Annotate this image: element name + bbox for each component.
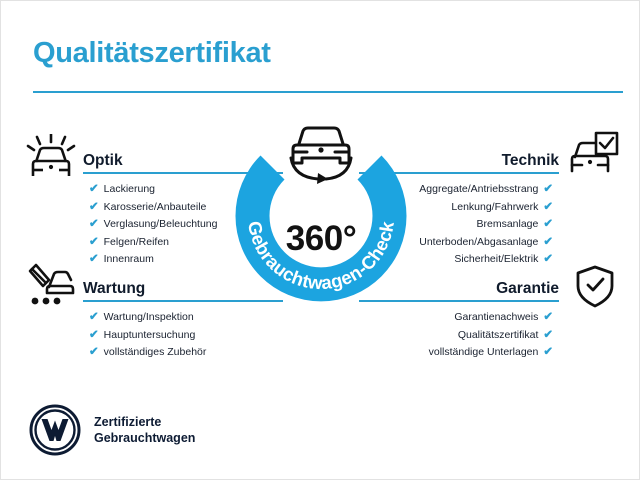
footer-brand: ZertifizierteGebrauchtwagen — [29, 404, 195, 456]
list-item: vollständige Unterlagen✔ — [429, 344, 553, 362]
section-title: Wartung — [83, 280, 145, 298]
list-item-label: Bremsanlage — [476, 216, 538, 234]
list-item-label: Hauptuntersuchung — [104, 327, 196, 345]
check-icon: ✔ — [543, 237, 553, 249]
title-divider — [33, 91, 623, 93]
car-front-rotate-icon — [280, 119, 362, 194]
list-item: ✔vollständiges Zubehör — [89, 344, 206, 362]
list-item-label: vollständige Unterlagen — [429, 344, 539, 362]
check-icon: ✔ — [543, 219, 553, 231]
list-item-label: Lenkung/Fahrwerk — [451, 199, 538, 217]
check-icon: ✔ — [543, 330, 553, 342]
list-item: Sicherheit/Elektrik✔ — [419, 251, 553, 269]
list-item-label: Karosserie/Anbauteile — [104, 199, 207, 217]
vw-logo-icon — [29, 404, 81, 456]
car-shine-icon — [25, 134, 77, 185]
certificate-page: Qualitätszertifikat — [0, 0, 640, 480]
check-icon: ✔ — [543, 254, 553, 266]
list-item: Lenkung/Fahrwerk✔ — [419, 199, 553, 217]
footer-line-2: Gebrauchtwagen — [94, 431, 195, 445]
check-icon: ✔ — [543, 184, 553, 196]
list-item: Qualitätszertifikat✔ — [429, 327, 553, 345]
check-icon: ✔ — [543, 347, 553, 359]
list-item: Aggregate/Antriebsstrang✔ — [419, 181, 553, 199]
list-item: ✔Lackierung — [89, 181, 217, 199]
check-icon: ✔ — [89, 312, 99, 324]
list-item-label: Lackierung — [104, 181, 155, 199]
section-list: Garantienachweis✔ Qualitätszertifikat✔ v… — [429, 309, 553, 362]
shield-check-icon — [574, 264, 616, 315]
list-item-label: Wartung/Inspektion — [104, 309, 194, 327]
list-item: ✔Karosserie/Anbauteile — [89, 199, 217, 217]
list-item: ✔Innenraum — [89, 251, 217, 269]
list-item: Garantienachweis✔ — [429, 309, 553, 327]
check-icon: ✔ — [89, 347, 99, 359]
list-item-label: Verglasung/Beleuchtung — [104, 216, 218, 234]
check-icon: ✔ — [543, 202, 553, 214]
check-icon: ✔ — [89, 330, 99, 342]
section-title: Optik — [83, 152, 123, 170]
list-item: ✔Verglasung/Beleuchtung — [89, 216, 217, 234]
section-list: ✔Wartung/Inspektion ✔Hauptuntersuchung ✔… — [89, 309, 206, 362]
footer-text: ZertifizierteGebrauchtwagen — [94, 414, 195, 447]
list-item: ✔Wartung/Inspektion — [89, 309, 206, 327]
badge-360-check: Gebrauchtwagen-Check — [224, 119, 418, 313]
footer-line-1: Zertifizierte — [94, 415, 161, 429]
badge-center-label: 360° — [224, 219, 418, 259]
check-icon: ✔ — [89, 184, 99, 196]
list-item-label: vollständiges Zubehör — [104, 344, 207, 362]
section-title: Garantie — [496, 280, 559, 298]
list-item-label: Sicherheit/Elektrik — [454, 251, 538, 269]
list-item-label: Qualitätszertifikat — [458, 327, 539, 345]
service-pen-car-icon — [25, 263, 77, 314]
section-title: Technik — [502, 152, 559, 170]
list-item: ✔Hauptuntersuchung — [89, 327, 206, 345]
list-item-label: Innenraum — [104, 251, 154, 269]
car-checkbox-icon — [569, 131, 619, 182]
list-item: Bremsanlage✔ — [419, 216, 553, 234]
list-item-label: Garantienachweis — [454, 309, 538, 327]
check-icon: ✔ — [89, 237, 99, 249]
check-icon: ✔ — [543, 312, 553, 324]
list-item-label: Aggregate/Antriebsstrang — [419, 181, 538, 199]
check-icon: ✔ — [89, 202, 99, 214]
list-item-label: Felgen/Reifen — [104, 234, 169, 252]
list-item-label: Unterboden/Abgasanlage — [419, 234, 538, 252]
check-icon: ✔ — [89, 219, 99, 231]
check-icon: ✔ — [89, 254, 99, 266]
section-list: ✔Lackierung ✔Karosserie/Anbauteile ✔Verg… — [89, 181, 217, 269]
list-item: ✔Felgen/Reifen — [89, 234, 217, 252]
page-title: Qualitätszertifikat — [33, 37, 271, 70]
list-item: Unterboden/Abgasanlage✔ — [419, 234, 553, 252]
section-list: Aggregate/Antriebsstrang✔ Lenkung/Fahrwe… — [419, 181, 553, 269]
